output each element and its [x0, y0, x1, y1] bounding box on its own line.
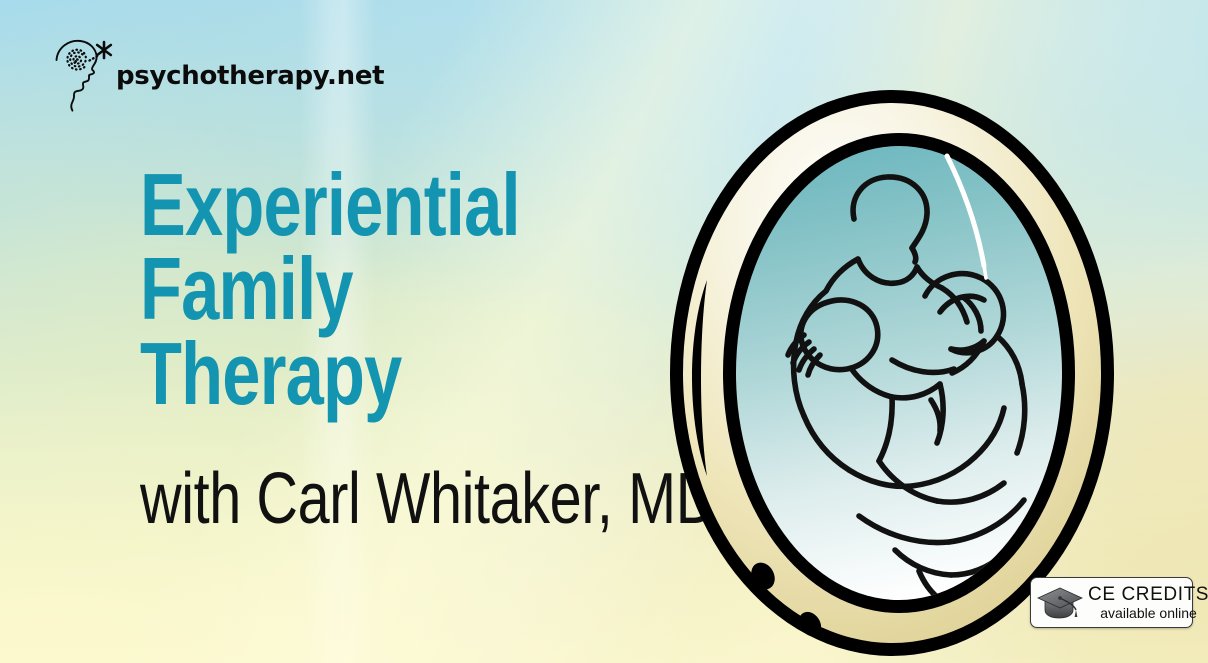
poster-canvas: psychotherapy.net Experiential Family Th… — [0, 0, 1208, 663]
graduation-cap-icon — [1036, 584, 1084, 622]
poster-title: Experiential Family Therapy — [140, 163, 520, 416]
brand-logo[interactable]: psychotherapy.net — [48, 34, 384, 114]
title-line-1: Experiential — [140, 163, 520, 247]
ce-badge-title: CE CREDITS — [1088, 585, 1208, 605]
medallion-face — [736, 146, 1062, 600]
head-profile-spiral-brain-icon — [48, 34, 114, 114]
poster-subtitle: with Carl Whitaker, MD — [140, 463, 717, 535]
ce-credits-badge[interactable]: CE CREDITS available online — [1030, 577, 1193, 628]
title-line-2: Family — [140, 247, 520, 331]
asterisk-icon — [97, 42, 111, 58]
ce-badge-text: CE CREDITS available online — [1088, 585, 1208, 621]
ce-badge-subtitle: available online — [1088, 606, 1208, 621]
title-line-3: Therapy — [140, 332, 520, 416]
brand-wordmark: psychotherapy.net — [116, 61, 384, 91]
